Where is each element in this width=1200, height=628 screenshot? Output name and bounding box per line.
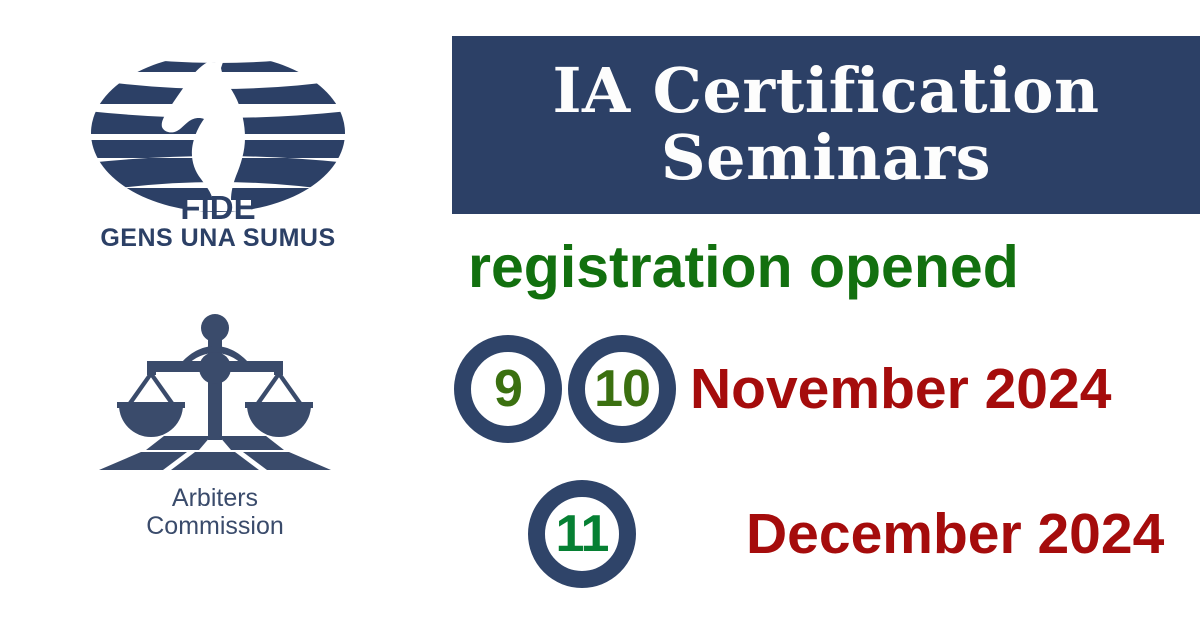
title-line-1: IA Certification	[552, 58, 1099, 125]
scales-of-justice-icon	[99, 310, 331, 478]
arbiters-caption-line-2: Commission	[90, 512, 340, 540]
title-line-2: Seminars	[661, 125, 991, 192]
poster-root: FIDE GENS UNA SUMUS	[0, 0, 1200, 628]
day-circle-11: 11	[528, 480, 636, 588]
month-year-label: December 2024	[746, 506, 1164, 563]
fide-globe-knight-icon: FIDE	[89, 52, 347, 222]
logo-column: FIDE GENS UNA SUMUS	[0, 0, 440, 628]
day-circle-10: 10	[568, 335, 676, 443]
registration-status-text: registration opened	[468, 238, 1200, 297]
day-number: 10	[594, 363, 650, 415]
fide-motto: GENS UNA SUMUS	[78, 226, 358, 251]
date-row-december: 11 December 2024	[528, 480, 1164, 588]
date-row-november: 9 10 November 2024	[454, 335, 1111, 443]
fide-logo-block: FIDE GENS UNA SUMUS	[78, 52, 358, 251]
fide-wordmark: FIDE	[180, 189, 255, 222]
arbiters-caption: Arbiters Commission	[90, 484, 340, 540]
title-banner: IA Certification Seminars	[452, 36, 1200, 214]
day-circle-9: 9	[454, 335, 562, 443]
arbiters-logo-block: Arbiters Commission	[90, 310, 340, 540]
day-number: 9	[494, 363, 522, 415]
content-column: IA Certification Seminars registration o…	[440, 0, 1200, 628]
day-number: 11	[556, 508, 609, 560]
arbiters-caption-line-1: Arbiters	[90, 484, 340, 512]
month-year-label: November 2024	[690, 361, 1111, 418]
